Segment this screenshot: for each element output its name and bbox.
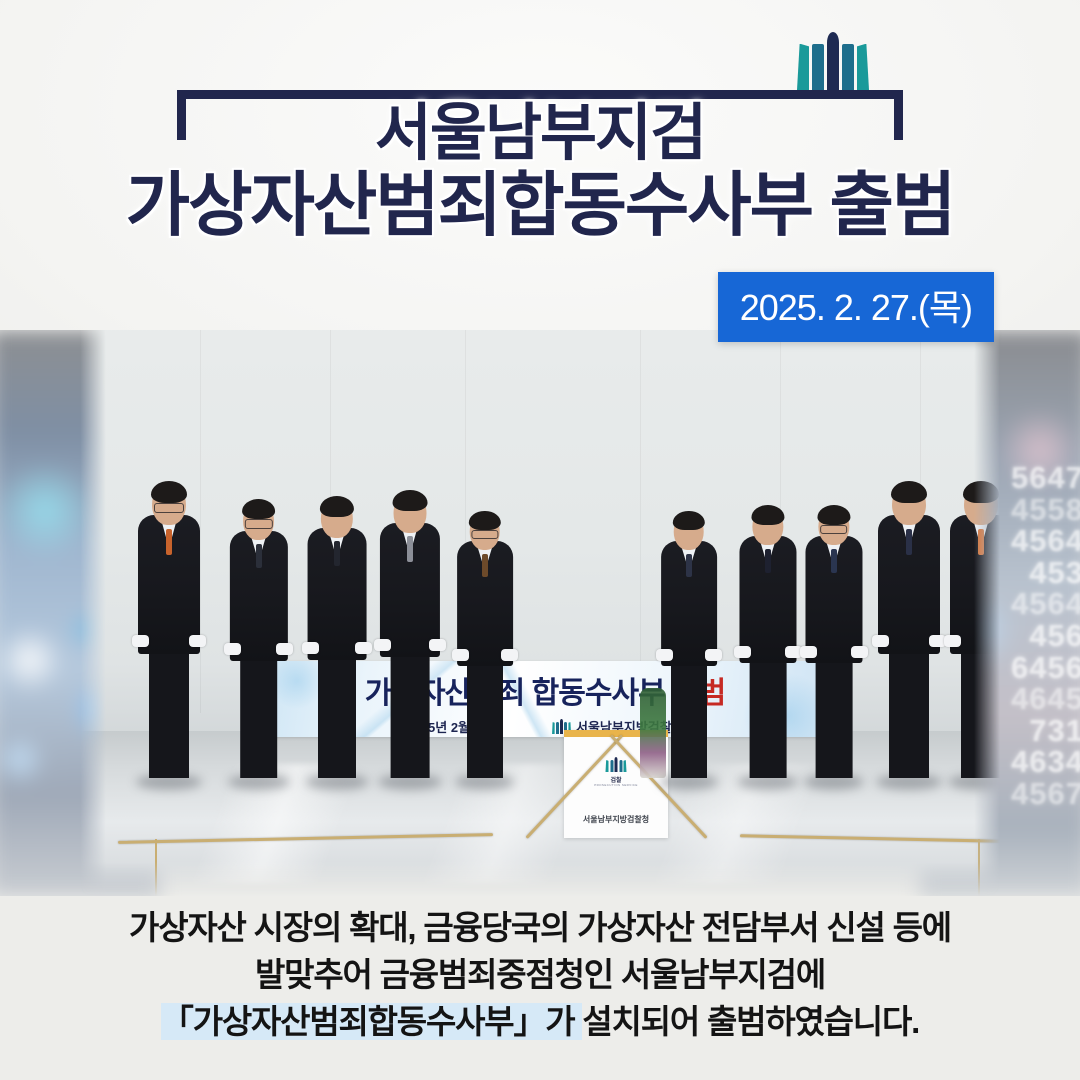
emblem-bar-3 (615, 757, 618, 772)
caption-block: 가상자산 시장의 확대, 금융당국의 가상자산 전담부서 신설 등에 발맞추어 … (0, 905, 1080, 1046)
participant-tie (482, 554, 488, 577)
emblem-bar-2 (812, 44, 824, 90)
participant (298, 465, 376, 779)
participant (730, 474, 805, 778)
participant-hair (242, 499, 276, 520)
emblem-bar-3 (560, 719, 563, 734)
participant (796, 474, 871, 778)
infographic-card: 서울남부지검 가상자산범죄합동수사부 출범 2025. 2. 27.(목) 56… (0, 0, 1080, 1080)
participant-glove (374, 639, 391, 651)
participant-glove (429, 639, 446, 651)
participant-hair (673, 511, 705, 531)
participant (128, 448, 210, 778)
participant-glove (800, 646, 817, 658)
emblem-bar-3 (827, 32, 839, 90)
participant-hair (751, 505, 784, 525)
participant-glove (224, 643, 241, 655)
participant-glove (872, 635, 889, 647)
participant-glove (302, 642, 319, 654)
participant-glove (851, 646, 868, 658)
participant-hair (891, 481, 927, 503)
caption-line-1: 가상자산 시장의 확대, 금융당국의 가상자산 전담부서 신설 등에 (0, 905, 1080, 952)
emblem-bar-4 (842, 44, 854, 90)
participant-glove (501, 649, 518, 661)
title-line-2: 가상자산범죄합동수사부 출범 (0, 171, 1080, 240)
emblem-bar-1 (552, 722, 555, 734)
participant-tie (256, 544, 262, 568)
participant-tie (334, 541, 340, 566)
participant (448, 481, 522, 778)
emblem-bar-4 (619, 760, 622, 772)
participant-hair (320, 496, 354, 517)
title-line-1: 서울남부지검 (0, 104, 1080, 165)
participant-glove (734, 646, 751, 658)
page-title: 서울남부지검 가상자산범죄합동수사부 출범 (0, 104, 1080, 239)
emblem-bar-2 (610, 760, 613, 772)
participant (220, 468, 297, 778)
participant-suit (950, 515, 1000, 654)
participant-glove (132, 635, 149, 647)
caption-line-2: 발맞추어 금융범죄중점청인 서울남부지검에 (0, 952, 1080, 999)
caption-line-3: 「가상자산범죄합동수사부」가 설치되어 출범하였습니다. (0, 999, 1080, 1046)
participant (370, 458, 450, 778)
participant-hair (469, 511, 501, 531)
participant-hair (151, 481, 187, 503)
participant-hair (817, 505, 850, 525)
participant-glove (656, 649, 673, 661)
ceremony-rope-drop-left (155, 839, 157, 896)
ceremony-photo: 가상자산범죄 합동수사부 출범 2025년 2월 27일 서울남부지방검찰청 검… (80, 330, 1000, 896)
participant-hair (963, 481, 999, 503)
plaque-emblem-icon (606, 757, 627, 772)
emblem-bar-2 (556, 722, 559, 734)
participant-glasses (471, 530, 498, 539)
participant-tie (831, 549, 837, 573)
participant-glasses (154, 503, 184, 513)
participant-tie (906, 529, 912, 555)
participant-glasses (244, 519, 272, 529)
ceremony-rope-drop-right (978, 839, 980, 896)
caption-highlight: 「가상자산범죄합동수사부」가 (161, 1003, 583, 1040)
emblem-bar-1 (797, 44, 809, 90)
participant-tie (686, 554, 692, 577)
participant-glove (705, 649, 722, 661)
participant-tie (765, 549, 771, 573)
participant-glove (452, 649, 469, 661)
participant-glove (944, 635, 961, 647)
participant-tie (407, 536, 413, 561)
emblem-bar-5 (624, 760, 627, 772)
prosecution-service-emblem (797, 32, 869, 90)
caption-line-3-rest: 설치되어 출범하였습니다. (582, 1003, 919, 1040)
participant-hair (392, 490, 427, 511)
plaque-emblem-sublabel: PROSECUTION SERVICE (564, 783, 668, 787)
participant-tie (978, 529, 984, 555)
emblem-bar-1 (606, 760, 609, 772)
participant-glove (189, 635, 206, 647)
participant-tie (166, 529, 172, 555)
participant (652, 481, 726, 778)
event-photo: 5647455845644534564456645646457314634456… (0, 330, 1080, 896)
participant (868, 448, 950, 778)
plaque-organization: 서울남부지방검찰청 (564, 814, 668, 825)
date-badge: 2025. 2. 27.(목) (718, 272, 994, 342)
emblem-bar-5 (857, 44, 869, 90)
participant-glove (276, 643, 293, 655)
participant (940, 448, 1000, 778)
participant-glasses (820, 525, 848, 534)
